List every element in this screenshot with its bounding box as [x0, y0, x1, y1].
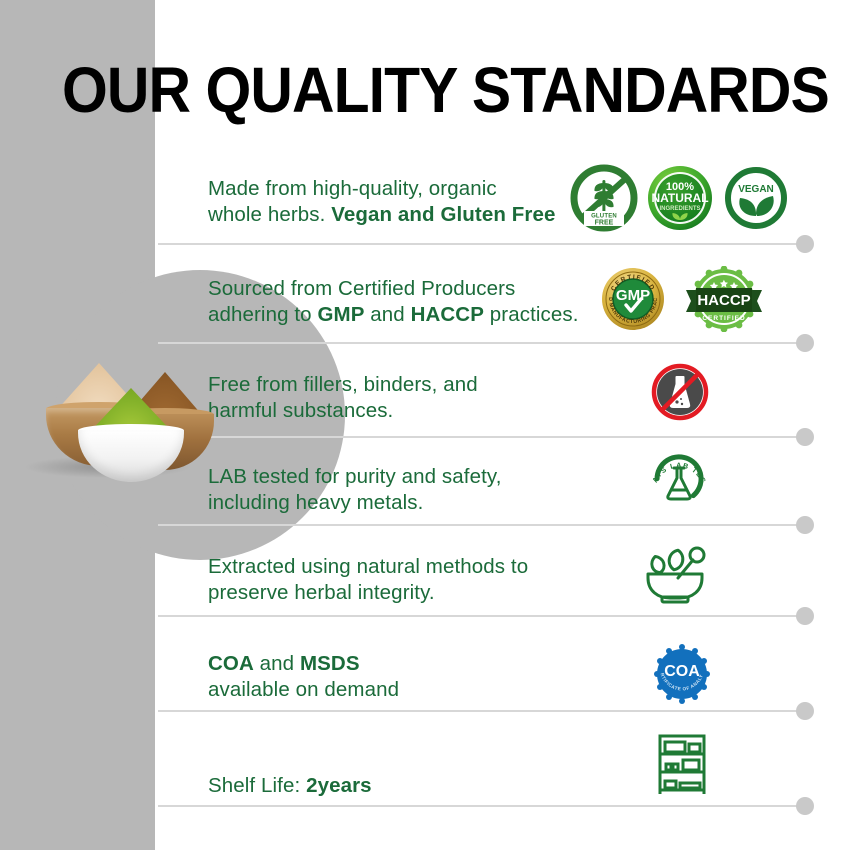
row-divider-dot-6: [796, 702, 814, 720]
row-extraction-line2: preserve herbal integrity.: [208, 581, 435, 604]
row-no-fillers-line2: harmful substances.: [208, 399, 393, 422]
row-certified-line2-haccp: HACCP: [411, 303, 484, 326]
row-divider-2: [158, 342, 803, 344]
natural-badge-line3: INGREDIENTS: [659, 206, 700, 212]
gmp-label: GMP: [616, 287, 650, 304]
row-divider-1: [158, 243, 803, 245]
row-certified-line2-gmp: GMP: [317, 303, 364, 326]
row-organic-line2-bold: Vegan and Gluten Free: [331, 203, 555, 226]
product-image-herbal-powder-bowls: [10, 352, 200, 482]
row-certified-line2-b: and: [364, 303, 410, 326]
haccp-certified-badge: HACCP CERTIFIED: [686, 266, 758, 332]
row-coa-label: COA: [208, 652, 254, 675]
row-divider-dot-3: [796, 428, 814, 446]
gluten-free-badge: GLUTEN FREE: [570, 164, 638, 232]
row-coa-line2: available on demand: [208, 678, 399, 701]
page-title: OUR QUALITY STANDARDS: [62, 58, 829, 122]
row-divider-3: [158, 436, 803, 438]
vegan-label: VEGAN: [738, 184, 774, 195]
row-divider-7: [158, 805, 803, 807]
row-certified-line2-c: practices.: [484, 303, 579, 326]
haccp-sub-label: CERTIFIED: [702, 315, 745, 322]
row-coa-and: and: [254, 652, 300, 675]
haccp-label: HACCP: [697, 292, 750, 309]
row-shelf-life-value: 2years: [306, 774, 372, 797]
natural-badge-line2: NATURAL: [651, 191, 708, 205]
row-no-fillers-line1: Free from fillers, binders, and: [208, 373, 478, 396]
gmp-certified-badge: CERTIFIED GOOD MANUFACTURING PRACTICE GM…: [600, 266, 666, 332]
vegan-badge: VEGAN: [724, 166, 788, 230]
row-certified-line2-a: adhering to: [208, 303, 317, 326]
row-divider-dot-4: [796, 516, 814, 534]
gluten-free-label-line2: FREE: [595, 220, 614, 227]
row-lab-tested-line1: LAB tested for purity and safety,: [208, 465, 502, 488]
storage-shelf-icon: [656, 733, 708, 795]
coa-label: COA: [664, 663, 700, 680]
row-extraction-line1: Extracted using natural methods to: [208, 555, 528, 578]
coa-seal-icon: COA CERTIFICATE OF ANALYSIS: [652, 643, 712, 705]
row-divider-dot-2: [796, 334, 814, 352]
row-organic-line2-plain: whole herbs.: [208, 203, 331, 226]
row-lab-tested-line2: including heavy metals.: [208, 491, 423, 514]
100-natural-ingredients-badge: 100% NATURAL INGREDIENTS: [646, 164, 714, 232]
mortar-and-pestle-icon: [640, 540, 710, 604]
row-shelf-life-label: Shelf Life:: [208, 774, 306, 797]
no-chemicals-icon: [650, 362, 710, 422]
always-lab-tested-icon: ALWAYS LAB TESTED: [646, 446, 712, 512]
row-organic-line1: Made from high-quality, organic: [208, 177, 497, 200]
row-divider-6: [158, 710, 803, 712]
row-certified-line1: Sourced from Certified Producers: [208, 277, 515, 300]
row-divider-4: [158, 524, 803, 526]
row-msds-label: MSDS: [300, 652, 360, 675]
row-divider-dot-1: [796, 235, 814, 253]
row-divider-5: [158, 615, 803, 617]
row-divider-dot-7: [796, 797, 814, 815]
row-divider-dot-5: [796, 607, 814, 625]
